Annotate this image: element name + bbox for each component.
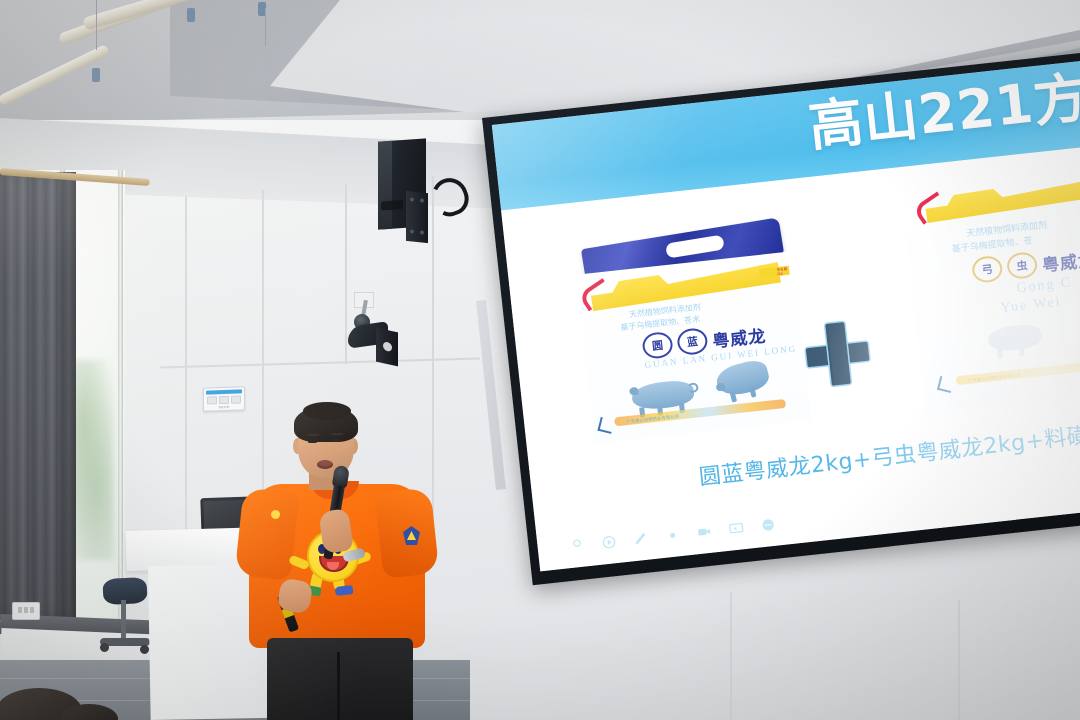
handle-slot: [665, 235, 725, 259]
package-tag-text-left: 净含量2kg: [776, 267, 787, 276]
window-frame-right: [118, 170, 123, 630]
photo-scene: 智能控制 高山221方: [0, 0, 1080, 720]
plus-vertical-bar: [825, 322, 851, 386]
brand-emblem-1-left: 圆: [641, 331, 674, 360]
shoulder-print-dot: [271, 510, 280, 519]
slide-body: 净含量2kg 天然植物饲料添加剂 基于乌梅提取物、苍术 圆 蓝 粤威龙 GUAN…: [501, 145, 1080, 571]
package-arrow-left: [597, 417, 614, 434]
chair-caster-1: [100, 643, 109, 652]
brand-name-right: 粤威龙: [1041, 245, 1080, 276]
presentation-toolbar[interactable]: [569, 517, 776, 554]
control-panel-header: [206, 389, 242, 394]
product-right: 天然植物饲料添加剂 基于乌梅提取物、苍 弓 虫 粤威龙 Gong C Yue W…: [901, 160, 1080, 433]
wall-control-panel[interactable]: 智能控制: [203, 386, 245, 411]
wall-panel-seam-7: [730, 592, 732, 720]
pig-illustration-1: [631, 379, 695, 412]
presenter-eye-right: [332, 439, 341, 442]
wall-panel-seam-6: [958, 600, 960, 720]
brand-pinyin-line-1-right: Gong C: [1016, 275, 1073, 297]
brand-emblem-2-left: 蓝: [676, 327, 709, 356]
presenter-brow-left: [307, 434, 319, 436]
curtain[interactable]: [0, 172, 76, 620]
control-button-1[interactable]: [207, 396, 217, 404]
presenter: [243, 398, 433, 720]
wall-panel-seam-3: [345, 184, 347, 364]
product-left: 净含量2kg 天然植物饲料添加剂 基于乌梅提取物、苍术 圆 蓝 粤威龙 GUAN…: [573, 221, 817, 473]
projection-screen[interactable]: 高山221方 净含量2kg 天然植物饲料添加剂 基于乌梅提取物、苍术: [482, 51, 1080, 585]
laser-dot-icon[interactable]: [664, 527, 681, 544]
camera-icon[interactable]: [696, 524, 713, 541]
control-panel-label: 智能控制: [204, 404, 244, 409]
brand-emblem-1-right: 弓: [971, 255, 1004, 284]
bracket-hole: [383, 341, 392, 352]
mascot-shoe-right: [335, 585, 354, 596]
speaker-mount-bracket: [406, 191, 428, 243]
plus-symbol: [803, 320, 871, 388]
presenter-eye-left: [308, 440, 317, 443]
chair-caster-2: [140, 645, 149, 654]
package-face-left: 净含量2kg 天然植物饲料添加剂 基于乌梅提取物、苍术 圆 蓝 粤威龙 GUAN…: [576, 251, 811, 444]
package-yellow-band-right: [924, 167, 1080, 223]
brand-emblem-2-right: 虫: [1006, 251, 1039, 280]
hanger-wire-2: [265, 8, 266, 46]
speaker-small-plate: [376, 328, 398, 367]
presenter-brow-right: [331, 433, 343, 435]
screen-share-icon[interactable]: [728, 520, 745, 537]
wall-speaker-small: [348, 300, 392, 352]
chair-stem: [121, 600, 126, 642]
presenter-hair-top: [303, 402, 351, 420]
pig-illustration-2: [714, 357, 772, 399]
package-arrow-right: [937, 376, 954, 393]
pipe-clip-1: [92, 68, 100, 82]
pants-seam: [337, 652, 340, 720]
control-panel-buttons[interactable]: [207, 395, 241, 404]
presenter-mouth: [317, 460, 333, 469]
package-face-right: 天然植物饲料添加剂 基于乌梅提取物、苍 弓 虫 粤威龙 Gong C Yue W…: [901, 159, 1080, 414]
speaker-grille: [381, 200, 403, 211]
slide-surface: 高山221方 净含量2kg 天然植物饲料添加剂 基于乌梅提取物、苍术: [492, 60, 1080, 571]
pen-icon[interactable]: [633, 531, 650, 548]
presenter-pants: [267, 638, 413, 720]
brand-pinyin-line-2-right: Yue Wei: [1000, 295, 1063, 318]
more-options-icon[interactable]: [760, 517, 777, 534]
pipe-clip-2: [187, 8, 195, 22]
pig-illustration-3: [987, 323, 1043, 353]
hanger-wire-1: [96, 0, 97, 50]
control-button-2[interactable]: [219, 396, 229, 404]
speaker-face: [378, 141, 392, 230]
control-button-3[interactable]: [231, 395, 241, 403]
pointer-icon[interactable]: [569, 537, 586, 554]
power-outlet[interactable]: [12, 602, 40, 620]
play-icon[interactable]: [601, 534, 618, 551]
